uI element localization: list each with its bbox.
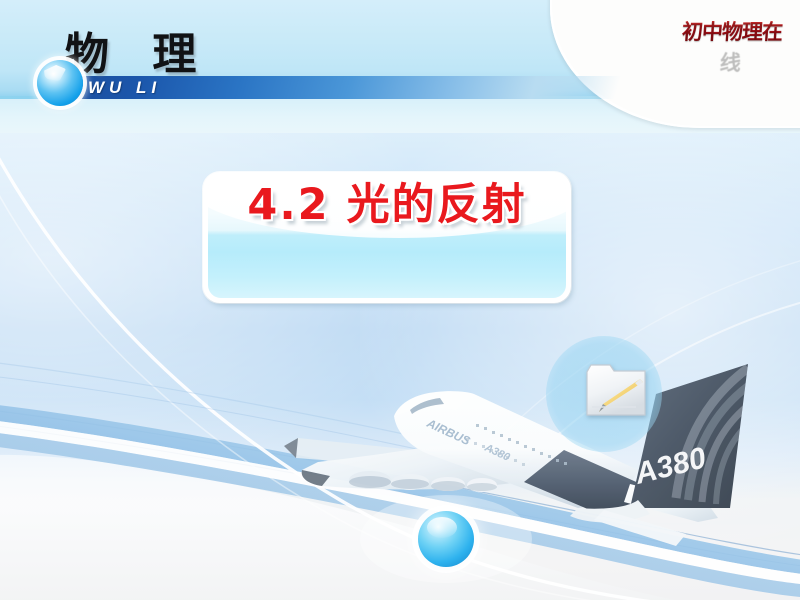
slide-title: 4.2 光的反射: [203, 170, 571, 232]
subject-title-pinyin: WU LI: [88, 76, 161, 99]
subject-title-cn: 物 理: [65, 18, 210, 82]
blue-glossy-sphere-icon: [37, 60, 83, 106]
airbus-a380-airplane: AIRBUS A380 A380: [278, 358, 800, 548]
slide-canvas: AIRBUS A380 A380: [0, 0, 800, 600]
site-logo[interactable]: 初中物理在线: [677, 17, 787, 47]
blue-glossy-sphere-decoration: [418, 511, 474, 567]
folder-with-pencil-icon: [584, 362, 648, 420]
